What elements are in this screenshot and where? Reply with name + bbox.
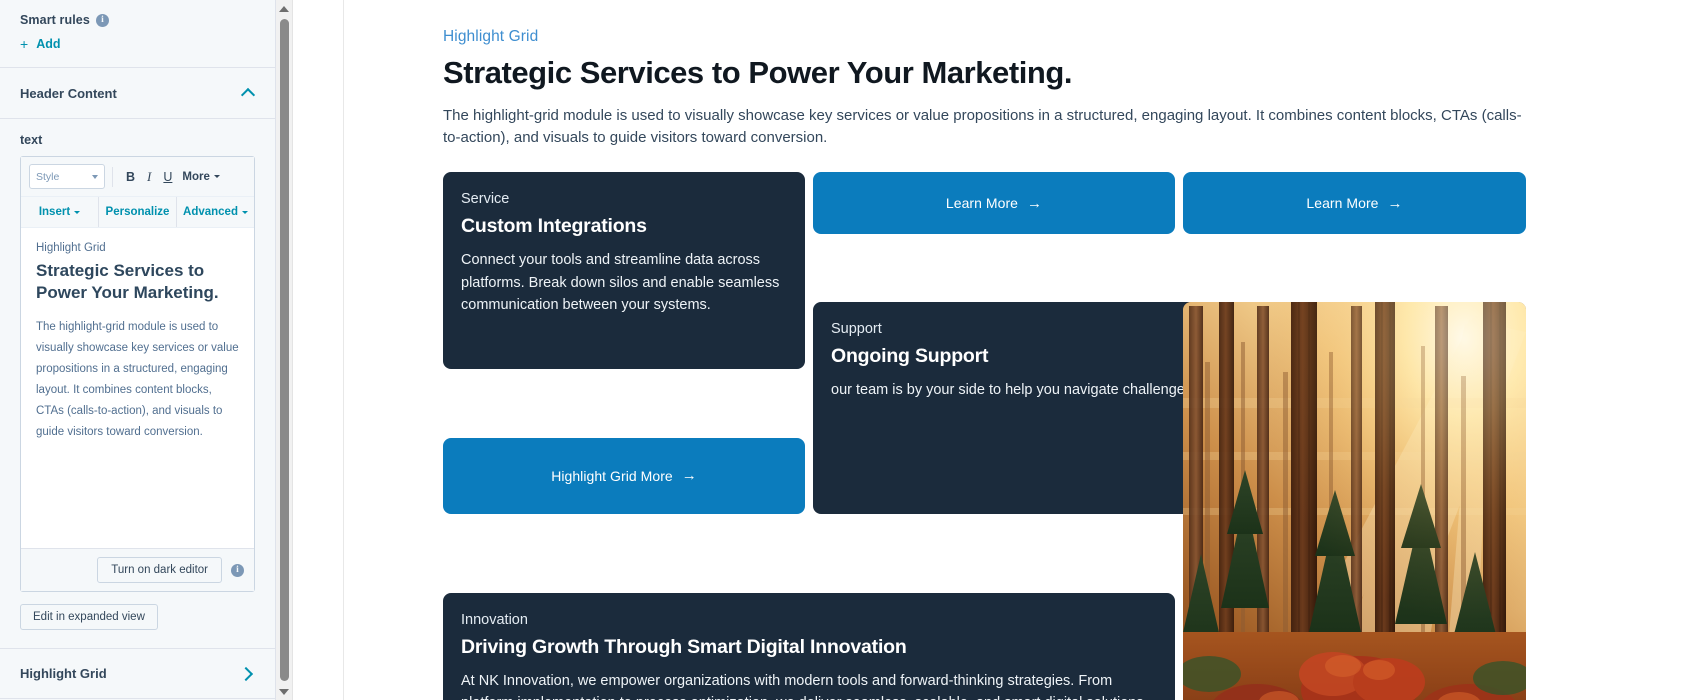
page-content: Highlight Grid Strategic Services to Pow… (344, 0, 1696, 700)
advanced-menu-button[interactable]: Advanced (177, 197, 254, 227)
personalize-button[interactable]: Personalize (99, 197, 177, 227)
text-field-label: text (20, 133, 255, 147)
editor-toolbar-row-2: Insert Personalize Advanced (21, 197, 254, 228)
forest-photo (1183, 302, 1526, 700)
editor-footer: Turn on dark editor i (21, 548, 254, 591)
more-label: More (182, 171, 209, 183)
card-eyebrow: Innovation (461, 612, 1157, 628)
highlight-grid: Service Custom Integrations Connect your… (443, 172, 1528, 700)
insert-label: Insert (39, 206, 70, 218)
card-service[interactable]: Service Custom Integrations Connect your… (443, 172, 805, 369)
add-smart-rule-button[interactable]: + Add (20, 37, 255, 51)
smart-rules-header: Smart rules i (20, 13, 255, 27)
learn-more-button-1[interactable]: Learn More → (813, 172, 1175, 234)
sidebar: Smart rules i + Add Header Content text … (0, 0, 276, 700)
card-body: At NK Innovation, we empower organizatio… (461, 670, 1157, 700)
learn-more-label: Learn More (946, 195, 1018, 211)
bold-button[interactable]: B (120, 167, 141, 187)
advanced-label: Advanced (183, 206, 238, 218)
highlight-grid-more-button[interactable]: Highlight Grid More → (443, 438, 805, 514)
header-content-title: Header Content (20, 86, 117, 101)
smart-rules-section: Smart rules i + Add (0, 0, 275, 68)
info-icon[interactable]: i (96, 14, 109, 27)
turn-on-dark-editor-button[interactable]: Turn on dark editor (97, 557, 222, 583)
card-body: Connect your tools and streamline data a… (461, 249, 787, 317)
add-label: Add (36, 37, 60, 51)
arrow-right-icon: → (1388, 195, 1403, 212)
arrow-right-icon: → (1027, 195, 1042, 212)
scroll-arrow-up-icon[interactable] (276, 0, 293, 17)
editor-canvas[interactable]: Highlight Grid Strategic Services to Pow… (21, 228, 254, 548)
toolbar-divider (112, 167, 113, 187)
more-formatting-button[interactable]: More (178, 168, 223, 186)
page-subtitle: The highlight-grid module is used to vis… (443, 105, 1528, 149)
chevron-right-icon[interactable] (242, 667, 255, 680)
underline-button[interactable]: U (157, 167, 178, 187)
italic-button[interactable]: I (141, 166, 157, 188)
chevron-down-icon (92, 175, 98, 179)
arrow-right-icon: → (682, 467, 697, 484)
chevron-up-icon[interactable] (242, 87, 255, 100)
plus-icon: + (20, 37, 28, 51)
page-title: Strategic Services to Power Your Marketi… (443, 56, 1666, 91)
edit-in-expanded-view-button[interactable]: Edit in expanded view (20, 604, 158, 630)
chevron-down-icon (242, 211, 248, 214)
chevron-down-icon (74, 211, 80, 214)
rich-text-editor: Style B I U More Insert (20, 156, 255, 592)
style-select-value: Style (36, 171, 59, 183)
autumn-forest-sunlight-photo (1183, 302, 1526, 700)
card-innovation[interactable]: Innovation Driving Growth Through Smart … (443, 593, 1175, 700)
page-eyebrow: Highlight Grid (443, 28, 1666, 46)
editor-toolbar-row-1: Style B I U More (21, 157, 254, 197)
card-title: Custom Integrations (461, 215, 787, 238)
scroll-arrow-down-icon[interactable] (276, 683, 293, 700)
learn-more-label: Learn More (1306, 195, 1378, 211)
text-field-group: text Style B I U More (0, 119, 275, 648)
page-preview: Highlight Grid Strategic Services to Pow… (343, 0, 1696, 700)
chevron-down-icon (214, 175, 220, 178)
card-title: Driving Growth Through Smart Digital Inn… (461, 636, 1157, 659)
editor-heading: Strategic Services to Power Your Marketi… (36, 260, 239, 303)
style-select[interactable]: Style (29, 164, 105, 189)
card-eyebrow: Service (461, 191, 787, 207)
scrollbar-thumb[interactable] (280, 19, 289, 681)
highlight-grid-more-label: Highlight Grid More (551, 468, 673, 484)
sidebar-item-label: Highlight Grid (20, 666, 107, 681)
header-content-accordion[interactable]: Header Content (0, 68, 275, 119)
learn-more-button-2[interactable]: Learn More → (1183, 172, 1526, 234)
sidebar-item-highlight-grid[interactable]: Highlight Grid (0, 648, 275, 699)
smart-rules-label: Smart rules (20, 13, 90, 27)
editor-body: The highlight-grid module is used to vis… (36, 317, 239, 443)
editor-eyebrow: Highlight Grid (36, 242, 239, 254)
info-icon[interactable]: i (231, 564, 244, 577)
sidebar-scrollbar[interactable] (276, 0, 293, 700)
app-root: Smart rules i + Add Header Content text … (0, 0, 1696, 700)
insert-menu-button[interactable]: Insert (21, 197, 99, 227)
